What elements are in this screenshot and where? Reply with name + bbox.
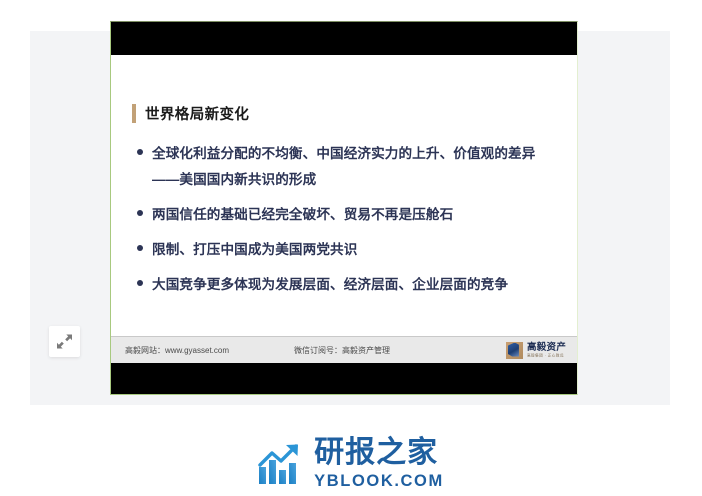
bullet-dot-icon [137, 280, 143, 286]
footer-wechat-text: 微信订阅号：高毅资产管理 [294, 345, 390, 356]
bullet-text: 两国信任的基础已经完全破坏、贸易不再是压舱石 [152, 202, 453, 228]
bullet-dot-icon [137, 149, 143, 155]
slide-footer: 高毅网站：www.gyasset.com 微信订阅号：高毅资产管理 高毅资产 高… [111, 336, 577, 363]
list-item: 大国竞争更多体现为发展层面、经济层面、企业层面的竞争 [137, 272, 557, 298]
bullet-text: 大国竞争更多体现为发展层面、经济层面、企业层面的竞争 [152, 272, 508, 298]
brand-text: 高毅资产 高毅集团 · 正心致远 [527, 343, 568, 358]
document-viewer: 世界格局新变化 全球化利益分配的不均衡、中国经济实力的上升、价值观的差异——美国… [0, 0, 702, 420]
bullet-text: 限制、打压中国成为美国两党共识 [152, 237, 357, 263]
expand-diagonal-arrows-icon [56, 333, 73, 350]
slide-title-text: 世界格局新变化 [145, 103, 249, 124]
watermark-cn-text: 研报之家 [314, 438, 444, 468]
gyasset-logo-icon [506, 342, 523, 359]
bullet-text: 全球化利益分配的不均衡、中国经济实力的上升、价值观的差异——美国国内新共识的形成 [152, 141, 557, 193]
bullet-dot-icon [137, 210, 143, 216]
slide-title: 世界格局新变化 [132, 103, 249, 124]
slide-canvas: 世界格局新变化 全球化利益分配的不均衡、中国经济实力的上升、价值观的差异——美国… [111, 55, 577, 363]
brand-logo: 高毅资产 高毅集团 · 正心致远 [506, 342, 568, 359]
list-item: 全球化利益分配的不均衡、中国经济实力的上升、价值观的差异——美国国内新共识的形成 [137, 141, 557, 193]
bullet-list: 全球化利益分配的不均衡、中国经济实力的上升、价值观的差异——美国国内新共识的形成… [137, 141, 557, 307]
watermark-en-text: YBLOOK.COM [314, 473, 444, 490]
list-item: 限制、打压中国成为美国两党共识 [137, 237, 557, 263]
brand-tagline-text: 高毅集团 · 正心致远 [527, 354, 564, 358]
footer-website-text: 高毅网站：www.gyasset.com [125, 345, 229, 356]
expand-button[interactable] [49, 326, 80, 357]
watermark-text: 研报之家 YBLOOK.COM [314, 438, 444, 490]
bullet-dot-icon [137, 245, 143, 251]
watermark: 研报之家 YBLOOK.COM [0, 432, 702, 496]
slide-stage[interactable]: 世界格局新变化 全球化利益分配的不均衡、中国经济实力的上升、价值观的差异——美国… [110, 21, 578, 395]
list-item: 两国信任的基础已经完全破坏、贸易不再是压舱石 [137, 202, 557, 228]
brand-name-text: 高毅资产 [527, 343, 568, 353]
bar-chart-arrow-icon [258, 443, 304, 485]
title-accent-bar-icon [132, 104, 136, 123]
